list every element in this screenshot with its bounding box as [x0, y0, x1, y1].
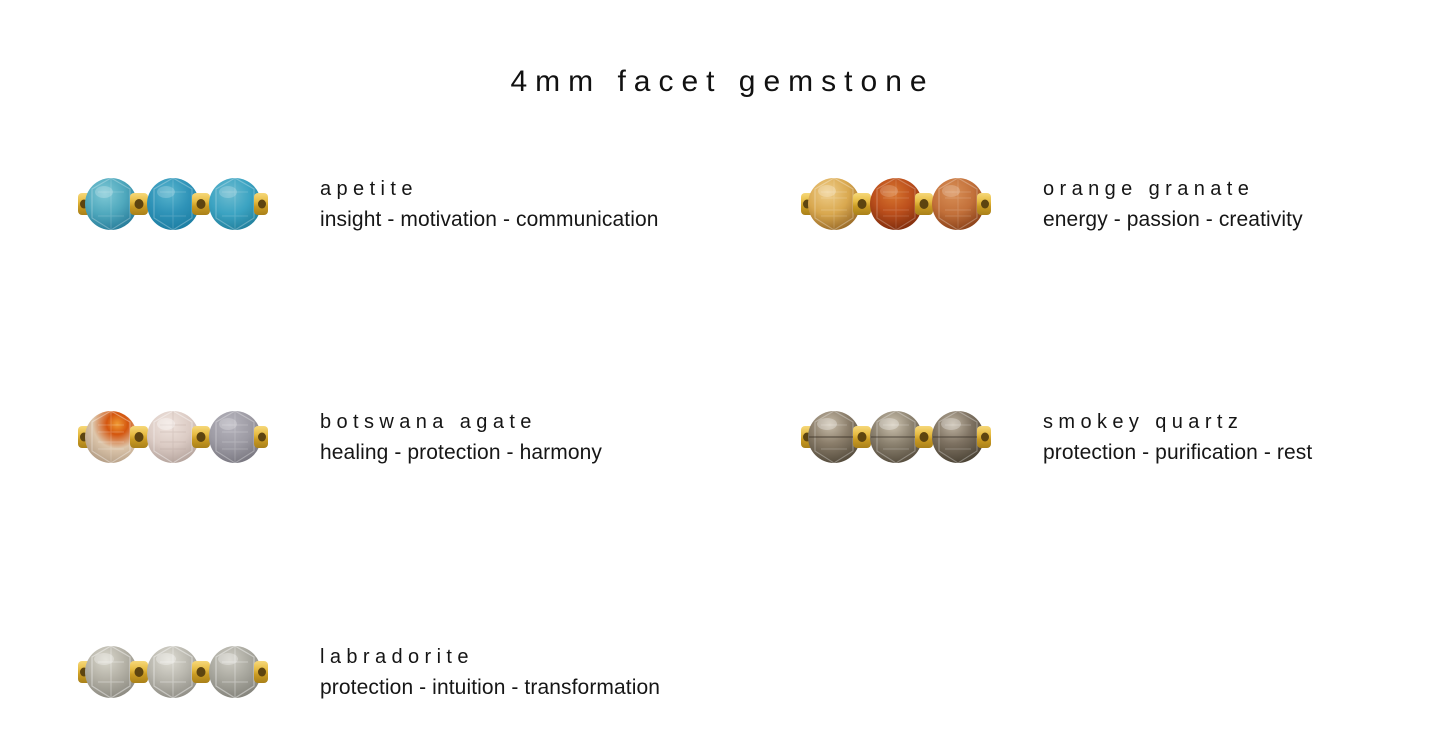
bead-strand-icon: [801, 405, 991, 469]
bead-strand-icon: [78, 172, 268, 236]
gemstone-entry-apetite[interactable]: apetite insight - motivation - communica…: [78, 172, 659, 236]
gemstone-entry-smokey-quartz[interactable]: smokey quartz protection - purification …: [801, 405, 1312, 469]
bead-strand-icon: [78, 405, 268, 469]
gemstone-description: healing - protection - harmony: [320, 438, 602, 468]
gemstone-description: protection - intuition - transformation: [320, 673, 660, 703]
gemstone-text-block: apetite insight - motivation - communica…: [320, 174, 659, 235]
gemstone-entry-labradorite[interactable]: labradorite protection - intuition - tra…: [78, 640, 660, 704]
gemstone-entry-botswana-agate[interactable]: botswana agate healing - protection - ha…: [78, 405, 602, 469]
gemstone-name: orange granate: [1043, 176, 1303, 203]
gemstone-entry-orange-granate[interactable]: orange granate energy - passion - creati…: [801, 172, 1303, 236]
gemstone-text-block: botswana agate healing - protection - ha…: [320, 407, 602, 468]
gemstone-description: protection - purification - rest: [1043, 438, 1312, 468]
gemstone-list: apetite insight - motivation - communica…: [0, 0, 1445, 733]
gemstone-name: smokey quartz: [1043, 409, 1312, 436]
gemstone-name: botswana agate: [320, 409, 602, 436]
gemstone-text-block: orange granate energy - passion - creati…: [1043, 174, 1303, 235]
gemstone-description: insight - motivation - communication: [320, 205, 659, 235]
gemstone-name: labradorite: [320, 644, 660, 671]
gemstone-name: apetite: [320, 176, 659, 203]
bead-strand-icon: [78, 640, 268, 704]
bead-strand-icon: [801, 172, 991, 236]
gemstone-text-block: smokey quartz protection - purification …: [1043, 407, 1312, 468]
gemstone-text-block: labradorite protection - intuition - tra…: [320, 642, 660, 703]
gemstone-description: energy - passion - creativity: [1043, 205, 1303, 235]
